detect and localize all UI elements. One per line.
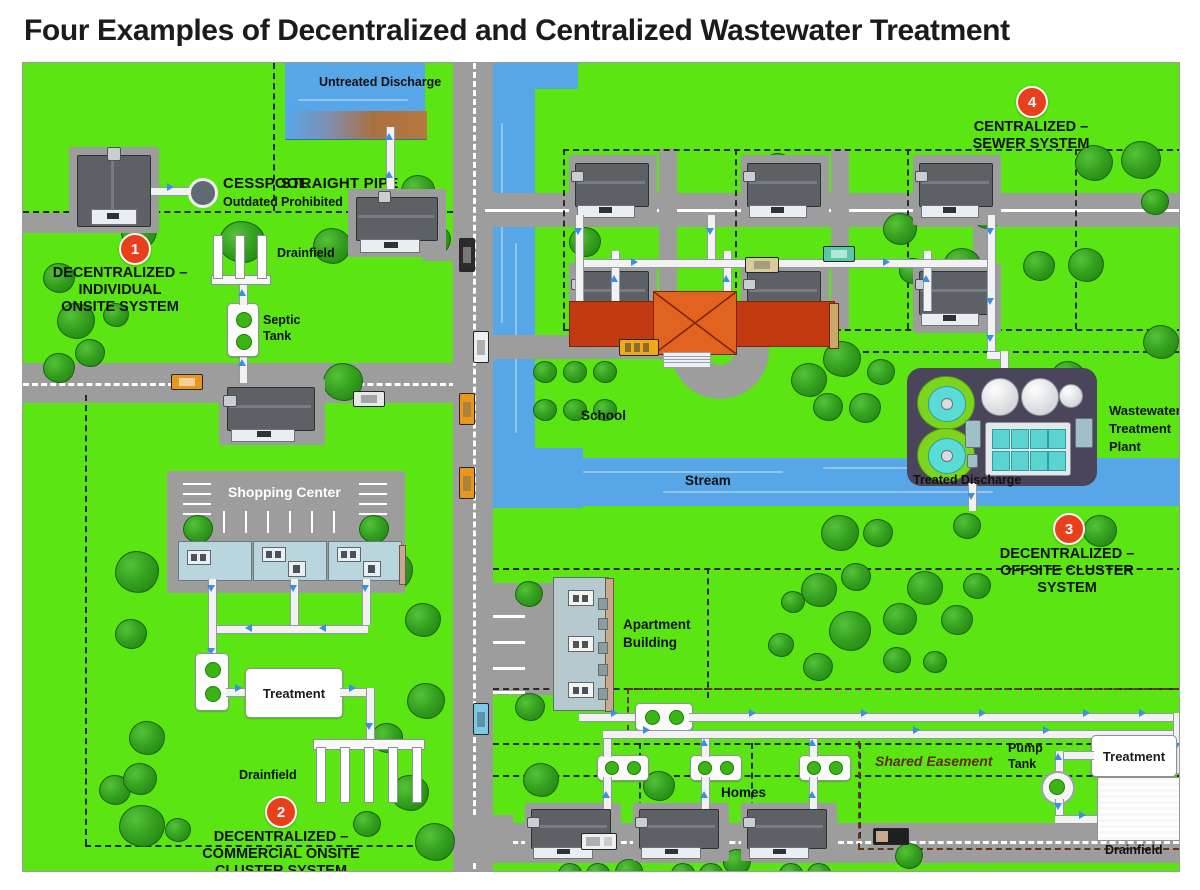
house-door	[943, 315, 956, 321]
homes-label: Homes	[721, 785, 766, 800]
callout-label-3-line3: SYSTEM	[987, 580, 1147, 597]
straightpipe-house	[348, 189, 446, 257]
sc-stall-div	[289, 511, 291, 533]
flow-arrow-cluster-7	[913, 726, 920, 734]
tree	[405, 603, 441, 637]
tree	[563, 361, 587, 383]
sc-stall	[359, 503, 387, 505]
apt-stall-2	[493, 641, 525, 644]
tree	[558, 863, 582, 872]
infographic-page: Four Examples of Decentralized and Centr…	[0, 0, 1200, 890]
store-entry	[337, 547, 361, 562]
drainfield-label-region2: Drainfield	[239, 768, 297, 782]
sewer-main-horizontal	[575, 259, 995, 268]
apartment-building	[553, 577, 609, 711]
callout-badge-3: 3	[1053, 513, 1085, 545]
car-pickup-truck	[873, 828, 909, 845]
apartment-lateral	[579, 713, 635, 722]
car-sedan-white-1	[353, 391, 385, 407]
septic-tank-home-3	[799, 755, 851, 781]
septic-tank-home-2	[690, 755, 742, 781]
tree	[593, 361, 617, 383]
septic-tank-lid-2	[205, 686, 221, 702]
flow-arrow-home3	[808, 791, 816, 798]
treated-discharge-label: Treated Discharge	[913, 473, 1021, 487]
property-line-v-lot1	[563, 149, 565, 329]
drainfield-lateral	[412, 747, 422, 803]
house-door	[771, 207, 784, 213]
drainfield-lateral	[340, 747, 350, 803]
flow-arrow-treated-discharge	[967, 493, 975, 500]
drainfield-lateral	[388, 747, 398, 803]
sc-stall	[359, 483, 387, 485]
house-ridge	[749, 289, 817, 292]
digester-tank-2	[1021, 378, 1059, 416]
untreated-discharge-label: Untreated Discharge	[319, 75, 441, 89]
tree	[1143, 325, 1179, 359]
school-wing-right	[723, 301, 835, 347]
callout-badge-2: 2	[265, 796, 297, 828]
tree	[183, 515, 213, 543]
tree	[863, 519, 893, 547]
house-roof	[747, 163, 821, 207]
flow-arrow-store1	[207, 585, 215, 592]
house-chimney	[571, 171, 584, 182]
house-ridge	[921, 181, 989, 184]
tree	[791, 363, 827, 397]
apartment-vent	[598, 618, 608, 630]
flow-arrow-sewer-h2	[706, 228, 714, 235]
tree	[883, 213, 917, 245]
tree	[515, 693, 545, 721]
sc-stall-div	[245, 511, 247, 533]
store-unit-3	[328, 541, 402, 581]
basin-cell	[992, 451, 1010, 471]
house-chimney	[635, 817, 648, 828]
plant-label-line1: Wastewater	[1109, 403, 1180, 418]
drainfield-lateral-2	[235, 235, 245, 279]
wastewater-treatment-plant	[907, 368, 1097, 486]
tree	[129, 721, 165, 755]
car-suv-black	[459, 238, 475, 272]
car-van-white	[581, 833, 617, 850]
store-entry	[363, 561, 381, 577]
tree	[813, 393, 843, 421]
flow-arrow-main-1	[631, 258, 638, 266]
tree	[801, 573, 837, 607]
house-door	[773, 849, 786, 854]
house-roof	[747, 809, 827, 849]
apartment-vent	[598, 664, 608, 676]
tree	[1121, 141, 1161, 179]
house-roof	[919, 163, 993, 207]
tree	[1083, 515, 1117, 547]
flow-arrow-straightpipe-2	[385, 171, 393, 178]
easement-line-cluster-left	[627, 688, 629, 731]
plant-building-left	[965, 420, 981, 448]
house-ridge	[358, 215, 434, 218]
digester-tank-1	[981, 378, 1019, 416]
septic-tank-lid-2	[236, 334, 252, 350]
flow-arrow-cluster-6	[643, 726, 650, 734]
car-sedan-orange-1	[171, 374, 203, 390]
car-taxi-orange	[459, 393, 475, 425]
house-door	[943, 207, 956, 213]
drainfield-lateral-3	[257, 235, 267, 279]
tree	[119, 805, 165, 847]
basin-cell	[1048, 451, 1066, 471]
septic-tank-lid-1	[807, 761, 821, 775]
callout-label-1-line3: ONSITE SYSTEM	[35, 299, 205, 316]
house-roof	[227, 387, 315, 431]
apartment-entry-3	[568, 682, 594, 698]
store-entry	[187, 550, 211, 565]
school-bus	[619, 339, 659, 356]
tree	[533, 399, 557, 421]
flow-arrow-collector-2	[319, 624, 326, 632]
cluster-home-2	[633, 803, 729, 861]
flow-arrow-cluster-2	[861, 709, 868, 717]
flow-arrow-treatment-out	[349, 684, 356, 692]
sc-stall	[359, 493, 387, 495]
stream-ripple-3	[663, 491, 993, 493]
flow-arrow-sewer-h4	[610, 275, 618, 282]
sc-stall-div	[333, 511, 335, 533]
house-chimney	[743, 279, 756, 290]
callout-label-3-line1: DECENTRALIZED –	[987, 546, 1147, 563]
apt-stall-1	[493, 615, 525, 618]
tree	[586, 863, 610, 872]
school-wing-right-side	[829, 303, 839, 349]
house-ridge	[577, 181, 645, 184]
property-line-h-homes-top	[493, 743, 1180, 745]
store-unit-1	[178, 541, 252, 581]
drainfield-label-region1: Drainfield	[277, 246, 335, 260]
tree	[123, 763, 157, 795]
pump-tank-label-line1: Pump	[1008, 741, 1043, 755]
basin-cell	[992, 429, 1010, 449]
callout-label-2-line1: DECENTRALIZED –	[183, 829, 379, 846]
apartment-label-line1: Apartment	[623, 617, 691, 632]
flow-arrow-collector-1	[245, 624, 252, 632]
untreated-plume	[285, 111, 427, 140]
flow-arrow-main-4	[986, 298, 994, 305]
region1-house	[219, 379, 325, 445]
car-sedan-white-2	[473, 331, 489, 363]
apartment-entry-1	[568, 590, 594, 606]
sewer-house-2	[741, 155, 829, 225]
house-roof	[639, 809, 719, 849]
house-chimney	[743, 171, 756, 182]
stream-label: Stream	[685, 473, 731, 488]
apartment-vent	[598, 642, 608, 654]
callout-badge-4: 4	[1016, 86, 1048, 118]
site-map: CESSPOOL Outdated STRAIGHT PIPE Prohibit…	[22, 62, 1180, 872]
pumptank-to-drainfield	[1055, 815, 1099, 824]
house-ridge	[229, 405, 311, 408]
flow-arrow-sewer-h5	[722, 275, 730, 282]
house-roof	[356, 197, 438, 241]
car-sedan-blue	[473, 703, 489, 735]
flow-arrow-straightpipe-1	[385, 133, 393, 140]
septic-tank-lid-2	[720, 761, 734, 775]
plant-building-small	[967, 454, 978, 468]
flow-arrow-main-5	[986, 335, 994, 342]
page-title: Four Examples of Decentralized and Centr…	[24, 14, 1184, 48]
tree	[43, 353, 75, 383]
callout-label-1-line2: INDIVIDUAL	[35, 282, 205, 299]
callout-badge-1: 1	[119, 233, 151, 265]
drainfield-region3	[1097, 777, 1180, 841]
flow-arrow-main-3	[883, 258, 890, 266]
store-entry	[262, 547, 286, 562]
digester-tank-3	[1059, 384, 1083, 408]
tree	[941, 605, 973, 635]
tree	[829, 611, 871, 651]
basin-cell	[1030, 429, 1048, 449]
tree	[821, 515, 859, 551]
tree	[699, 863, 723, 872]
sc-stall-div	[267, 511, 269, 533]
tree	[671, 863, 695, 872]
cesspool-pit	[188, 178, 218, 208]
cesspool-subtitle: Outdated	[223, 195, 278, 209]
sewer-lateral-h3	[987, 215, 996, 265]
road-bottom-corner	[453, 815, 513, 863]
house-chimney	[915, 171, 928, 182]
tree	[781, 591, 805, 613]
septic-tank-lid-2	[627, 761, 641, 775]
house-chimney	[743, 817, 756, 828]
sc-stall-div	[223, 511, 225, 533]
car-sedan-tan	[745, 257, 779, 273]
tree	[867, 359, 895, 385]
basin-cell	[1048, 429, 1066, 449]
tree	[1141, 189, 1169, 215]
cluster-home-1	[525, 803, 621, 861]
school-roof-hip-icon	[654, 292, 736, 354]
tree	[841, 563, 871, 591]
flow-arrow-sewer-h6	[922, 275, 930, 282]
school-steps	[663, 352, 711, 368]
tree	[803, 653, 833, 681]
sc-stall	[183, 493, 211, 495]
flow-arrow-to-df3	[1079, 811, 1086, 819]
apartment-vent	[598, 598, 608, 610]
tree	[115, 551, 159, 593]
store-entry	[288, 561, 306, 577]
flow-arrow-cluster-4	[1083, 709, 1090, 717]
drainfield-lateral	[364, 747, 374, 803]
store-unit-2	[253, 541, 327, 581]
flow-arrow-to-treatment	[235, 684, 242, 692]
house-chimney	[107, 147, 121, 161]
flow-arrow-to-drainfield-2	[365, 723, 373, 730]
easement-line-left-pump	[858, 731, 860, 849]
school-core	[653, 291, 737, 355]
tree	[115, 619, 147, 649]
store-collector-main	[208, 625, 368, 634]
tree	[407, 683, 445, 719]
septic-tank-lid-1	[645, 710, 660, 725]
house-chimney	[223, 395, 237, 407]
callout-label-4-line1: CENTRALIZED –	[953, 119, 1109, 136]
house-door	[107, 213, 119, 219]
car-sedan-orange-2	[459, 467, 475, 499]
sewer-lateral-h2	[707, 215, 716, 265]
flow-arrow-pumptank-up	[1054, 753, 1062, 760]
pump-tank-label-line2: Tank	[1008, 757, 1036, 771]
property-line-v-apt-right	[707, 568, 709, 698]
road-dash-center	[473, 63, 476, 869]
tree	[768, 633, 794, 657]
car-sedan-teal	[823, 246, 855, 262]
tree	[953, 513, 981, 539]
flow-arrow-riser2	[700, 739, 708, 746]
septic-tank-lid-1	[605, 761, 619, 775]
property-line-h-plant-zone	[853, 351, 1179, 353]
cesspool-house	[69, 147, 159, 233]
house-door	[557, 849, 570, 854]
tree	[415, 823, 455, 861]
cluster-collector-upper	[689, 713, 1179, 722]
tree	[849, 393, 881, 423]
easement-line-top	[627, 688, 1179, 690]
tree	[779, 863, 803, 872]
apt-stall-3	[493, 667, 525, 670]
callout-label-2-line2: COMMERCIAL ONSITE	[173, 846, 389, 863]
septic-tank-lid-1	[205, 662, 221, 678]
sc-stall	[183, 483, 211, 485]
house-door	[665, 849, 678, 854]
drainfield-label-region3: Drainfield	[1105, 843, 1163, 857]
treatment-to-drainfield-pipe	[366, 688, 375, 740]
flow-arrow-store3	[361, 585, 369, 592]
sc-stall-div	[311, 511, 313, 533]
stream-ripple-1	[583, 471, 783, 473]
house-door	[257, 431, 271, 437]
tree	[907, 571, 943, 605]
tree	[515, 581, 543, 607]
property-line-v-region2	[85, 395, 87, 845]
house-ridge	[533, 825, 607, 828]
septic-tank-lid-1	[698, 761, 712, 775]
septic-tank-lid-1	[236, 312, 252, 328]
flow-arrow-cluster-3	[979, 709, 986, 717]
septic-tank-lid-2	[669, 710, 684, 725]
flow-arrow-home1	[602, 791, 610, 798]
flow-arrow-pump-down	[1054, 803, 1062, 810]
flow-arrow-riser3	[808, 739, 816, 746]
stream-top-notch	[523, 63, 578, 89]
septic-tank-label-line1: Septic	[263, 313, 301, 327]
shopping-center-label: Shopping Center	[228, 484, 341, 500]
tree	[1023, 251, 1055, 281]
plant-building-right	[1075, 418, 1093, 448]
basin-cell	[1011, 451, 1029, 471]
septic-tank-lid-2	[829, 761, 843, 775]
treatment-unit-cluster: Treatment	[1091, 735, 1177, 777]
shared-easement-label: Shared Easement	[875, 753, 993, 769]
apartment-label-line2: Building	[623, 635, 677, 650]
callout-label-1-line1: DECENTRALIZED –	[35, 265, 205, 282]
flow-arrow-cluster-1	[749, 709, 756, 717]
tree	[883, 647, 911, 673]
house-ridge	[749, 181, 817, 184]
house-door	[599, 207, 612, 213]
cluster-home-3	[741, 803, 837, 861]
flow-arrow-region1-a	[238, 359, 246, 366]
house-door	[384, 242, 398, 248]
flow-arrow-apartment	[611, 709, 618, 717]
house-chimney	[527, 817, 540, 828]
tree	[523, 763, 559, 797]
flow-arrow-sewer-h3	[986, 228, 994, 235]
school-label: School	[581, 408, 626, 423]
apt-stall-4	[493, 691, 525, 694]
callout-label-3-line2: OFFSITE CLUSTER	[987, 563, 1147, 580]
sc-stall	[183, 503, 211, 505]
treatment-unit-commercial: Treatment	[245, 668, 343, 718]
septic-tank-region2	[195, 653, 229, 711]
plant-label-line2: Treatment	[1109, 421, 1171, 436]
house-chimney	[378, 191, 391, 203]
callout-label-4-line2: SEWER SYSTEM	[953, 136, 1109, 153]
store-side	[399, 545, 406, 585]
apartment-vent	[598, 688, 608, 700]
sewer-lateral-h1	[575, 215, 584, 265]
tree	[359, 515, 389, 543]
tree	[1068, 248, 1104, 282]
flow-arrow-home2	[700, 791, 708, 798]
house-roof	[575, 163, 649, 207]
flow-arrow-region1-b	[238, 289, 246, 296]
straightpipe-subtitle: Prohibited	[281, 195, 343, 209]
flow-arrow-sewer-h1	[574, 228, 582, 235]
septic-tank-label-line2: Tank	[263, 329, 291, 343]
drainfield-lateral-1	[213, 235, 223, 279]
untreated-ripple	[298, 99, 408, 101]
flow-arrow-cluster-5	[1139, 709, 1146, 717]
sewer-main-plant-drop	[1000, 351, 1009, 369]
house-ridge	[641, 825, 715, 828]
tree	[895, 843, 923, 869]
pump-tank-lid	[1049, 779, 1065, 795]
drainfield-lateral	[316, 747, 326, 803]
tree	[923, 651, 947, 673]
flow-arrow-cesspool	[167, 183, 174, 191]
house-ridge	[749, 825, 823, 828]
property-line-v-lot4	[1075, 149, 1077, 329]
plant-label-line3: Plant	[1109, 439, 1141, 454]
tree	[533, 361, 557, 383]
flow-arrow-store2	[289, 585, 297, 592]
basin-cell	[1011, 429, 1029, 449]
septic-tank-region1	[227, 303, 259, 357]
basin-cell	[1030, 451, 1048, 471]
tree	[807, 863, 831, 872]
callout-label-2-line3: CLUSTER SYSTEM	[183, 863, 379, 872]
tree	[75, 339, 105, 367]
aeration-basin	[985, 422, 1071, 476]
apartment-entry-2	[568, 636, 594, 652]
easement-line-right	[1179, 688, 1180, 848]
flow-arrow-cluster-8	[1043, 726, 1050, 734]
tree	[883, 603, 917, 635]
